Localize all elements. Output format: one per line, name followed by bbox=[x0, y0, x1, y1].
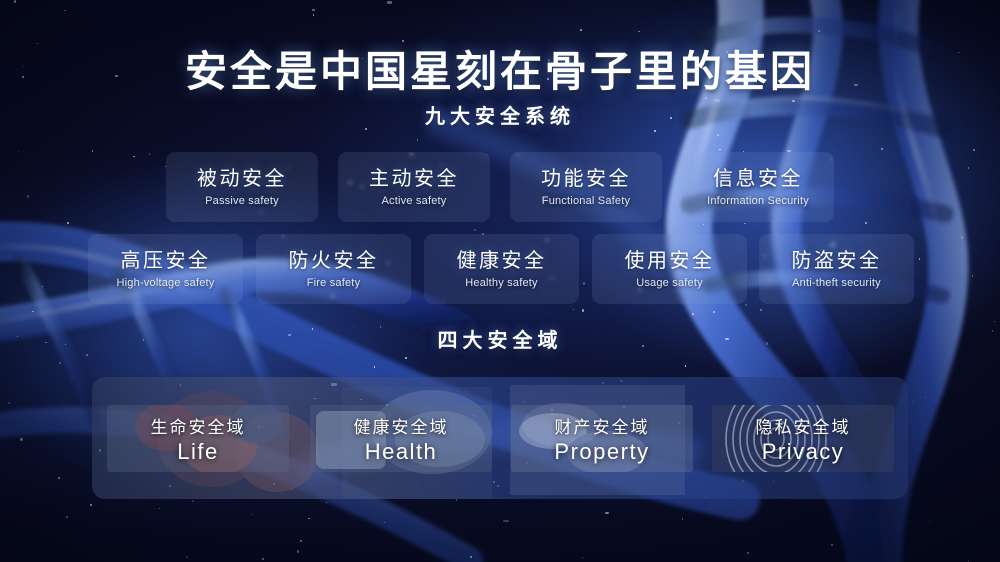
domain-card-en: Life bbox=[151, 439, 246, 465]
domain-card-en: Health bbox=[354, 439, 449, 465]
system-card-information-security[interactable]: 信息安全 Information Security bbox=[682, 152, 834, 222]
domain-card-life[interactable]: 生命安全域 Life bbox=[107, 405, 289, 472]
domain-card-en: Privacy bbox=[756, 439, 851, 465]
domain-card-privacy[interactable]: 隐私安全域 Privacy bbox=[712, 405, 894, 472]
domain-card-cn: 财产安全域 bbox=[554, 413, 649, 438]
system-card-active-safety[interactable]: 主动安全 Active safety bbox=[338, 152, 490, 222]
system-card-cn: 主动安全 bbox=[369, 168, 459, 190]
domain-card-health[interactable]: 健康安全域 Health bbox=[310, 405, 492, 472]
system-card-en: Active safety bbox=[382, 195, 447, 207]
system-card-cn: 高压安全 bbox=[121, 250, 211, 272]
system-card-en: Fire safety bbox=[307, 277, 361, 289]
system-card-functional-safety[interactable]: 功能安全 Functional Safety bbox=[510, 152, 662, 222]
slide-stage: 安全是中国星刻在骨子里的基因 九大安全系统 被动安全 Passive safet… bbox=[0, 0, 1000, 562]
system-card-cn: 防火安全 bbox=[289, 250, 379, 272]
system-card-cn: 使用安全 bbox=[625, 250, 715, 272]
domain-card-property[interactable]: 财产安全域 Property bbox=[511, 405, 693, 472]
system-card-en: Functional Safety bbox=[542, 195, 630, 207]
system-card-high-voltage-safety[interactable]: 高压安全 High-voltage safety bbox=[88, 234, 243, 304]
system-card-en: High-voltage safety bbox=[117, 277, 215, 289]
system-card-cn: 信息安全 bbox=[713, 168, 803, 190]
system-card-cn: 被动安全 bbox=[197, 168, 287, 190]
domain-card-en: Property bbox=[554, 439, 649, 465]
system-card-en: Healthy safety bbox=[465, 277, 538, 289]
system-card-cn: 健康安全 bbox=[457, 250, 547, 272]
system-card-cn: 功能安全 bbox=[541, 168, 631, 190]
system-card-healthy-safety[interactable]: 健康安全 Healthy safety bbox=[424, 234, 579, 304]
domain-card-cn: 生命安全域 bbox=[151, 413, 246, 438]
system-card-passive-safety[interactable]: 被动安全 Passive safety bbox=[166, 152, 318, 222]
system-card-en: Anti-theft security bbox=[792, 277, 881, 289]
system-card-en: Usage safety bbox=[636, 277, 703, 289]
system-card-anti-theft-security[interactable]: 防盗安全 Anti-theft security bbox=[759, 234, 914, 304]
systems-section-heading: 九大安全系统 bbox=[0, 100, 1000, 129]
system-card-cn: 防盗安全 bbox=[792, 250, 882, 272]
system-card-en: Information Security bbox=[707, 195, 809, 207]
page-title: 安全是中国星刻在骨子里的基因 bbox=[0, 38, 1000, 99]
domains-section-heading: 四大安全域 bbox=[0, 324, 1000, 353]
system-card-fire-safety[interactable]: 防火安全 Fire safety bbox=[256, 234, 411, 304]
domain-card-cn: 隐私安全域 bbox=[756, 413, 851, 438]
domain-card-cn: 健康安全域 bbox=[354, 413, 449, 438]
system-card-usage-safety[interactable]: 使用安全 Usage safety bbox=[592, 234, 747, 304]
system-card-en: Passive safety bbox=[205, 195, 279, 207]
